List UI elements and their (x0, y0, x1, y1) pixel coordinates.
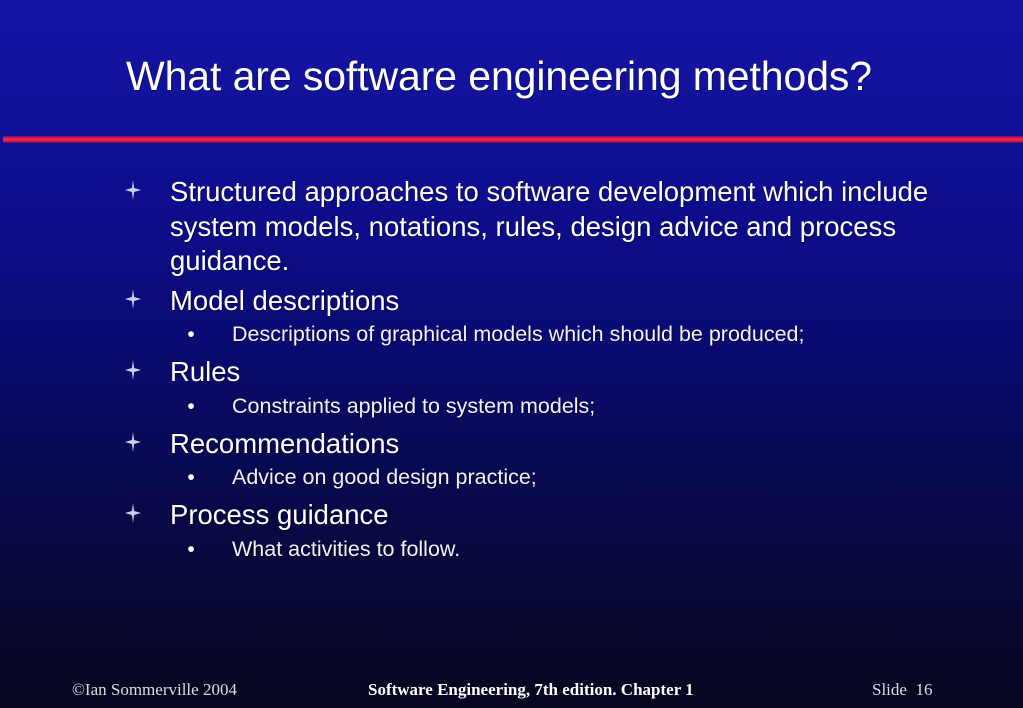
bullet-text: Rules (170, 356, 240, 387)
title-divider-rule (3, 136, 1023, 143)
bullet-text: Model descriptions (170, 285, 399, 316)
slide-body-content: Structured approaches to software develo… (0, 175, 1023, 566)
four-pointed-star-bullet-icon (124, 288, 142, 310)
slide-title: What are software engineering methods? (126, 51, 986, 101)
footer-copyright: ©Ian Sommerville 2004 (72, 676, 237, 704)
footer-book-title: Software Engineering, 7th edition. Chapt… (368, 676, 694, 704)
bullet-item-level1: Recommendations (0, 427, 1023, 462)
bullet-text: Recommendations (170, 428, 399, 459)
bullet-text: What activities to follow. (232, 537, 460, 561)
bullet-item-level2: • Advice on good design practice; (0, 462, 1023, 493)
bullet-text: Advice on good design practice; (232, 465, 537, 489)
bullet-item-level1: Structured approaches to software develo… (0, 175, 1023, 279)
bullet-item-level1: Process guidance (0, 498, 1023, 533)
round-dot-bullet-icon: • (184, 319, 198, 350)
presentation-slide: What are software engineering methods? S… (0, 0, 1023, 708)
footer-slide-number: Slide 16 (872, 676, 932, 704)
four-pointed-star-bullet-icon (124, 431, 142, 453)
round-dot-bullet-icon: • (184, 462, 198, 493)
bullet-text: Constraints applied to system models; (232, 394, 595, 418)
bullet-item-level1: Model descriptions (0, 284, 1023, 319)
four-pointed-star-bullet-icon (124, 179, 142, 201)
four-pointed-star-bullet-icon (124, 502, 142, 524)
round-dot-bullet-icon: • (184, 534, 198, 565)
bullet-item-level2: • Constraints applied to system models; (0, 391, 1023, 422)
bullet-item-level2: • What activities to follow. (0, 534, 1023, 565)
bullet-text: Descriptions of graphical models which s… (232, 322, 804, 346)
four-pointed-star-bullet-icon (124, 359, 142, 381)
slide-footer: ©Ian Sommerville 2004 Software Engineeri… (0, 676, 1023, 704)
bullet-text: Structured approaches to software develo… (170, 176, 928, 276)
bullet-text: Process guidance (170, 499, 389, 530)
bullet-item-level2: • Descriptions of graphical models which… (0, 319, 1023, 350)
bullet-item-level1: Rules (0, 355, 1023, 390)
round-dot-bullet-icon: • (184, 391, 198, 422)
